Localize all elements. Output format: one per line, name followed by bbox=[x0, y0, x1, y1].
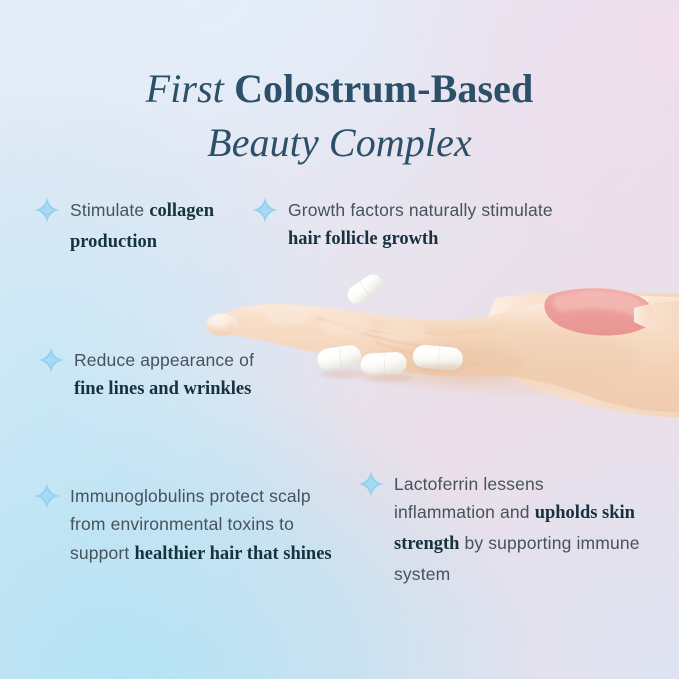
sparkle-icon bbox=[358, 471, 384, 497]
benefit-item-immunoglobulins: Immunoglobulins protect scalp from envir… bbox=[34, 482, 344, 570]
page-title: First Colostrum-Based Beauty Complex bbox=[0, 65, 679, 165]
title-word-colostrum-based: Colostrum-Based bbox=[234, 66, 533, 111]
sparkle-icon bbox=[252, 197, 278, 223]
benefit-text-normal: Reduce appearance of bbox=[74, 350, 254, 370]
benefit-text-normal: Lactoferrin lessens inflammation and bbox=[394, 474, 544, 522]
benefit-text-immunoglobulins: Immunoglobulins protect scalp from envir… bbox=[70, 482, 344, 570]
benefit-text-bold: fine lines and wrinkles bbox=[74, 379, 251, 399]
benefit-text-bold: hair follicle growth bbox=[288, 229, 438, 249]
benefit-item-hair-follicle: Growth factors naturally stimulate hair … bbox=[252, 196, 582, 255]
benefit-item-collagen: Stimulate collagen production bbox=[34, 196, 234, 258]
benefit-text-normal: Stimulate bbox=[70, 200, 149, 220]
title-word-first: First bbox=[146, 66, 234, 111]
sparkle-icon bbox=[34, 483, 60, 509]
benefit-text-wrinkles: Reduce appearance of fine lines and wrin… bbox=[74, 346, 288, 405]
benefit-item-wrinkles: Reduce appearance of fine lines and wrin… bbox=[38, 346, 288, 405]
title-line-2: Beauty Complex bbox=[0, 119, 679, 166]
benefit-text-bold: healthier hair that shines bbox=[134, 544, 331, 564]
sparkle-icon bbox=[34, 197, 60, 223]
benefit-text-lactoferrin: Lactoferrin lessens inflammation and uph… bbox=[394, 470, 648, 589]
sparkle-icon bbox=[38, 347, 64, 373]
benefit-text-normal: Growth factors naturally stimulate bbox=[288, 200, 553, 220]
benefit-text-hair-follicle: Growth factors naturally stimulate hair … bbox=[288, 196, 582, 255]
benefit-item-lactoferrin: Lactoferrin lessens inflammation and uph… bbox=[358, 470, 648, 589]
benefit-text-collagen: Stimulate collagen production bbox=[70, 196, 234, 258]
title-line-1: First Colostrum-Based bbox=[0, 65, 679, 112]
product-benefits-infographic: First Colostrum-Based Beauty Complex Sti… bbox=[0, 0, 679, 679]
